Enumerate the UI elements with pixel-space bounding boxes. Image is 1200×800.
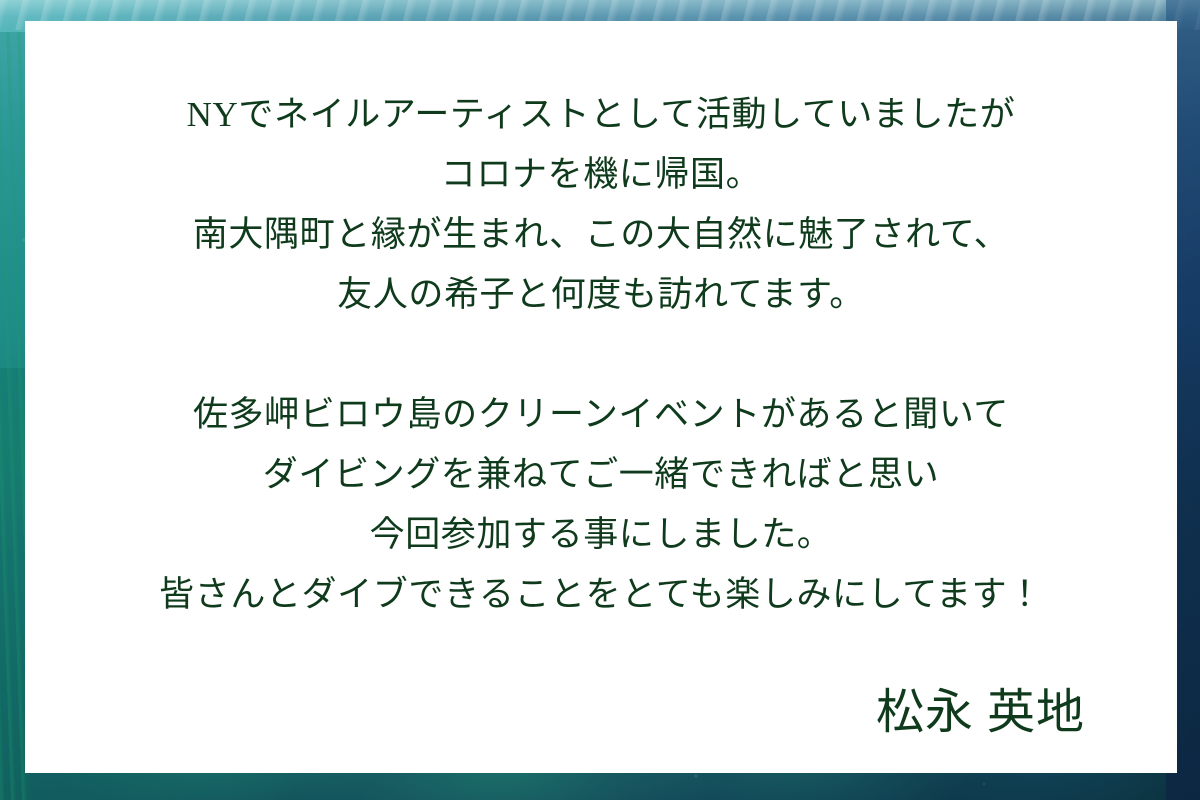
message-line: 皆さんとダイブできることをとても楽しみにしてます！ — [25, 565, 1177, 625]
message-line: 南大隅町と縁が生まれ、この大自然に魅了されて、 — [25, 205, 1177, 265]
message-line: コロナを機に帰国。 — [25, 145, 1177, 205]
message-line: 今回参加する事にしました。 — [25, 505, 1177, 565]
message-card: NYでネイルアーティストとして活動していましたが コロナを機に帰国。 南大隅町と… — [25, 21, 1177, 773]
signature-row: 松永 英地 — [25, 683, 1085, 743]
message-body: NYでネイルアーティストとして活動していましたが コロナを機に帰国。 南大隅町と… — [25, 85, 1177, 625]
message-line: 佐多岬ビロウ島のクリーンイベントがあると聞いて — [25, 385, 1177, 445]
signature-name: 松永 英地 — [876, 686, 1085, 739]
message-line: ダイビングを兼ねてご一緒できればと思い — [25, 445, 1177, 505]
paragraph-spacer — [25, 325, 1177, 385]
message-line: NYでネイルアーティストとして活動していましたが — [25, 85, 1177, 145]
screenshot-stage: NYでネイルアーティストとして活動していましたが コロナを機に帰国。 南大隅町と… — [0, 0, 1200, 800]
message-line: 友人の希子と何度も訪れてます。 — [25, 265, 1177, 325]
